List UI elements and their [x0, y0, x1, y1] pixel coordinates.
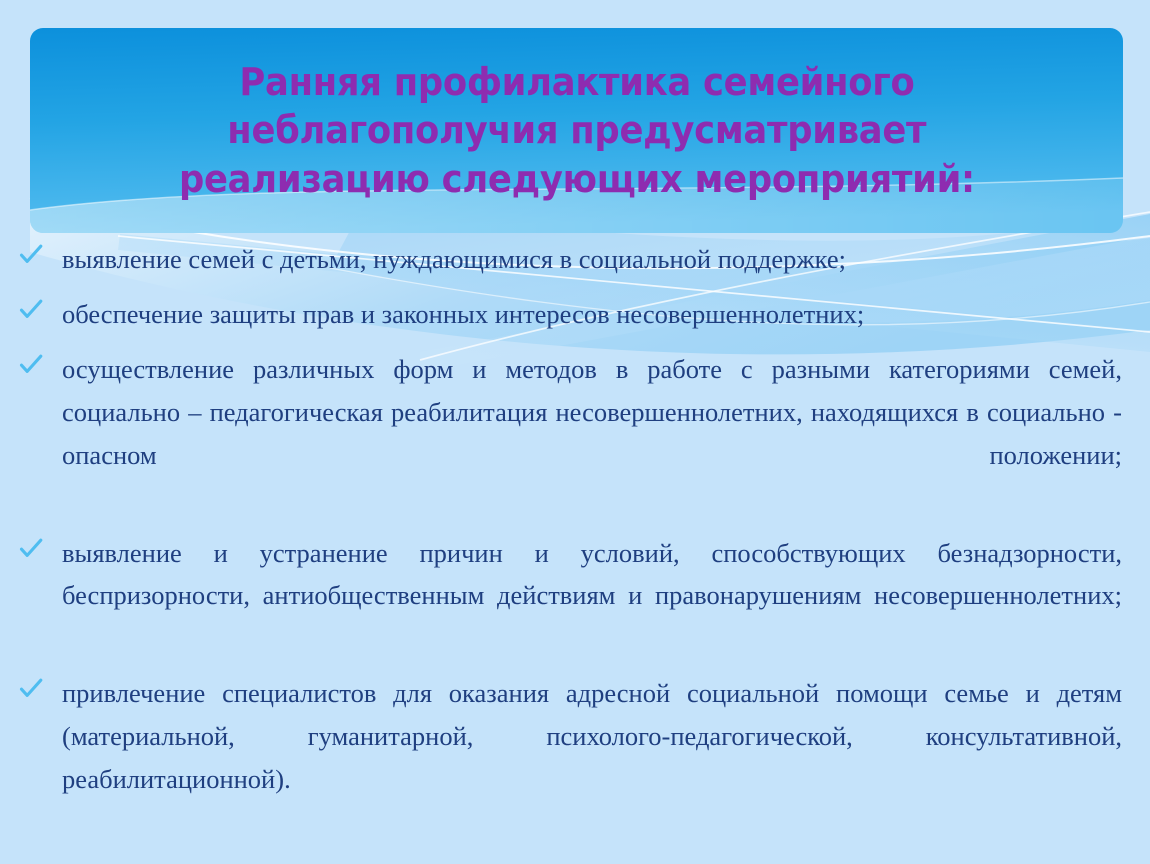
check-icon	[18, 297, 44, 323]
list-item-text: обеспечение защиты прав и законных интер…	[62, 293, 1122, 336]
list-item: привлечение специалистов для оказания ад…	[0, 672, 1150, 844]
list-item: выявление и устранение причин и условий,…	[0, 532, 1150, 661]
slide-title-banner: Ранняя профилактика семейного неблагопол…	[30, 28, 1123, 233]
list-item: выявление семей с детьми, нуждающимися в…	[0, 238, 1150, 281]
title-line-1: Ранняя профилактика семейного	[239, 58, 914, 107]
check-icon	[18, 676, 44, 702]
check-icon	[18, 352, 44, 378]
list-item-text: выявление семей с детьми, нуждающимися в…	[62, 238, 1122, 281]
list-item: обеспечение защиты прав и законных интер…	[0, 293, 1150, 336]
check-icon	[18, 536, 44, 562]
page-title: Ранняя профилактика семейного неблагопол…	[30, 28, 1123, 233]
title-line-3: реализацию следующих мероприятий:	[179, 155, 975, 204]
check-icon	[18, 242, 44, 268]
presentation-slide: Ранняя профилактика семейного неблагопол…	[0, 0, 1150, 864]
list-item-text: выявление и устранение причин и условий,…	[62, 532, 1122, 661]
list-item-text: осуществление различных форм и методов в…	[62, 348, 1122, 520]
title-line-2: неблагополучия предусматривает	[227, 106, 926, 155]
list-item-text: привлечение специалистов для оказания ад…	[62, 672, 1122, 844]
list-item: осуществление различных форм и методов в…	[0, 348, 1150, 520]
bullet-list: выявление семей с детьми, нуждающимися в…	[0, 238, 1150, 856]
